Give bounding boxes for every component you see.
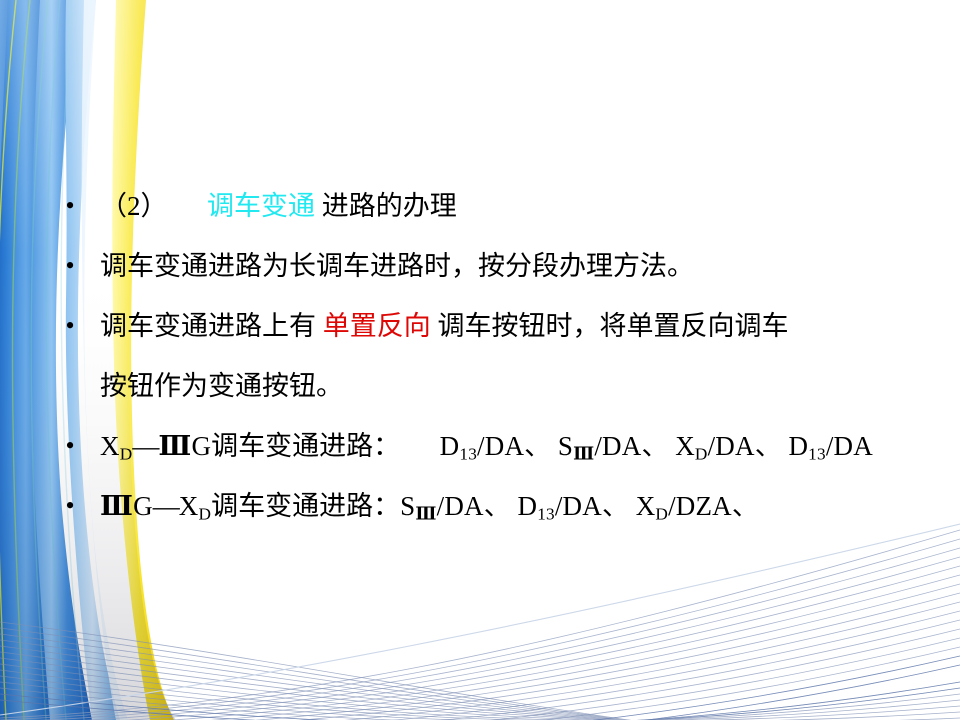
slide: • （2） 调车变通 进路的办理 • 调车变通进路为长调车进路时，按分段办理方法… [0, 0, 960, 720]
route-5-step-2: D13/DA [517, 491, 601, 521]
route-5-step-1-target: /DA [437, 491, 484, 521]
route-4-step-4-target: /DA [826, 431, 873, 461]
route-4-sep-2: 、 [641, 431, 668, 461]
route-5-dest-base: X [179, 491, 199, 521]
route-5-sep-2: 、 [602, 491, 629, 521]
bullet-1-highlight: 调车变通 [207, 191, 315, 221]
bullet-2-text: 调车变通进路为长调车进路时，按分段办理方法。 [100, 251, 694, 281]
route-4-step-1-base: D [440, 431, 460, 461]
route-4-step-2: SⅢ/DA [558, 431, 642, 461]
route-5-step-1-sub: Ⅲ [415, 504, 436, 523]
route-4-dash: — [132, 431, 158, 461]
bullet-marker-icon: • [60, 416, 80, 476]
bullet-marker-icon: • [60, 476, 80, 536]
route-5-step-2-sub: 13 [537, 504, 555, 523]
bullet-3-tail: 调车按钮时，将单置反向调车 [438, 311, 789, 341]
route-5-origin-roman: Ⅲ [100, 491, 133, 521]
bullet-1-number: （2） [100, 191, 168, 221]
route-5-dash: — [153, 491, 179, 521]
route-5-step-2-base: D [517, 491, 537, 521]
bullet-item-1: • （2） 调车变通 进路的办理 [52, 176, 952, 236]
bullet-item-3: • 调车变通进路上有 单置反向 调车按钮时，将单置反向调车 [52, 296, 952, 356]
route-4-origin-base: X [100, 431, 120, 461]
bullet-marker-icon: • [60, 236, 80, 296]
route-5-sep-1: 、 [484, 491, 511, 521]
route-4-step-3-target: /DA [708, 431, 755, 461]
route-4-step-4-base: D [788, 431, 808, 461]
slide-content: • （2） 调车变通 进路的办理 • 调车变通进路为长调车进路时，按分段办理方法… [0, 0, 960, 720]
bullet-3-continuation-text: 按钮作为变通按钮。 [100, 371, 343, 401]
route-4-step-4-sub: 13 [808, 444, 826, 463]
bullet-3-highlight: 单置反向 [323, 311, 431, 341]
route-5-step-3-base: X [636, 491, 656, 521]
route-5-step-1: SⅢ/DA [400, 491, 484, 521]
bullet-item-3-continuation: 按钮作为变通按钮。 [52, 356, 952, 416]
route-4-step-3-base: X [675, 431, 695, 461]
route-5-step-2-target: /DA [555, 491, 602, 521]
route-5-origin-base: G [133, 491, 153, 521]
route-4-step-4: D13/DA [788, 431, 872, 461]
route-5-suffix: 调车变通进路： [211, 491, 400, 521]
route-5-sep-3: 、 [732, 491, 759, 521]
route-5-dest-sub: D [199, 504, 212, 523]
route-4-sep-1: 、 [524, 431, 551, 461]
route-4-step-3: XD/DA [675, 431, 754, 461]
route-4-sep-3: 、 [755, 431, 782, 461]
bullet-item-4: • XD—ⅢG调车变通进路： D13/DA、 SⅢ/DA、 XD/DA、 D13… [52, 416, 952, 476]
bullet-item-5: • ⅢG—XD调车变通进路：SⅢ/DA、 D13/DA、 XD/DZA、 [52, 476, 952, 536]
route-4-step-3-sub: D [695, 444, 708, 463]
route-4-step-2-target: /DA [594, 431, 641, 461]
bullet-marker-icon: • [60, 296, 80, 356]
route-5-step-3-target: /DZA [668, 491, 732, 521]
route-4-origin-sub: D [120, 444, 133, 463]
route-5-dest: XD [179, 491, 211, 521]
route-4-step-1-sub: 13 [459, 444, 477, 463]
bullet-marker-icon: • [60, 176, 80, 236]
route-5-step-3: XD/DZA [636, 491, 732, 521]
route-4-suffix: 调车变通进路： [211, 431, 400, 461]
route-5-step-1-base: S [400, 491, 415, 521]
bullet-1-tail: 进路的办理 [322, 191, 457, 221]
bullet-3-head: 调车变通进路上有 [100, 311, 316, 341]
route-4-origin: XD [100, 431, 132, 461]
route-4-step-2-base: S [558, 431, 573, 461]
route-4-dest-roman: Ⅲ [158, 431, 191, 461]
route-4-step-2-sub: Ⅲ [573, 444, 594, 463]
bullet-item-2: • 调车变通进路为长调车进路时，按分段办理方法。 [52, 236, 952, 296]
route-5-step-3-sub: D [655, 504, 668, 523]
bullet-list: • （2） 调车变通 进路的办理 • 调车变通进路为长调车进路时，按分段办理方法… [52, 176, 952, 536]
route-4-step-1: D13/DA [440, 431, 524, 461]
route-4-dest-base: G [191, 431, 211, 461]
route-4-step-1-target: /DA [477, 431, 524, 461]
